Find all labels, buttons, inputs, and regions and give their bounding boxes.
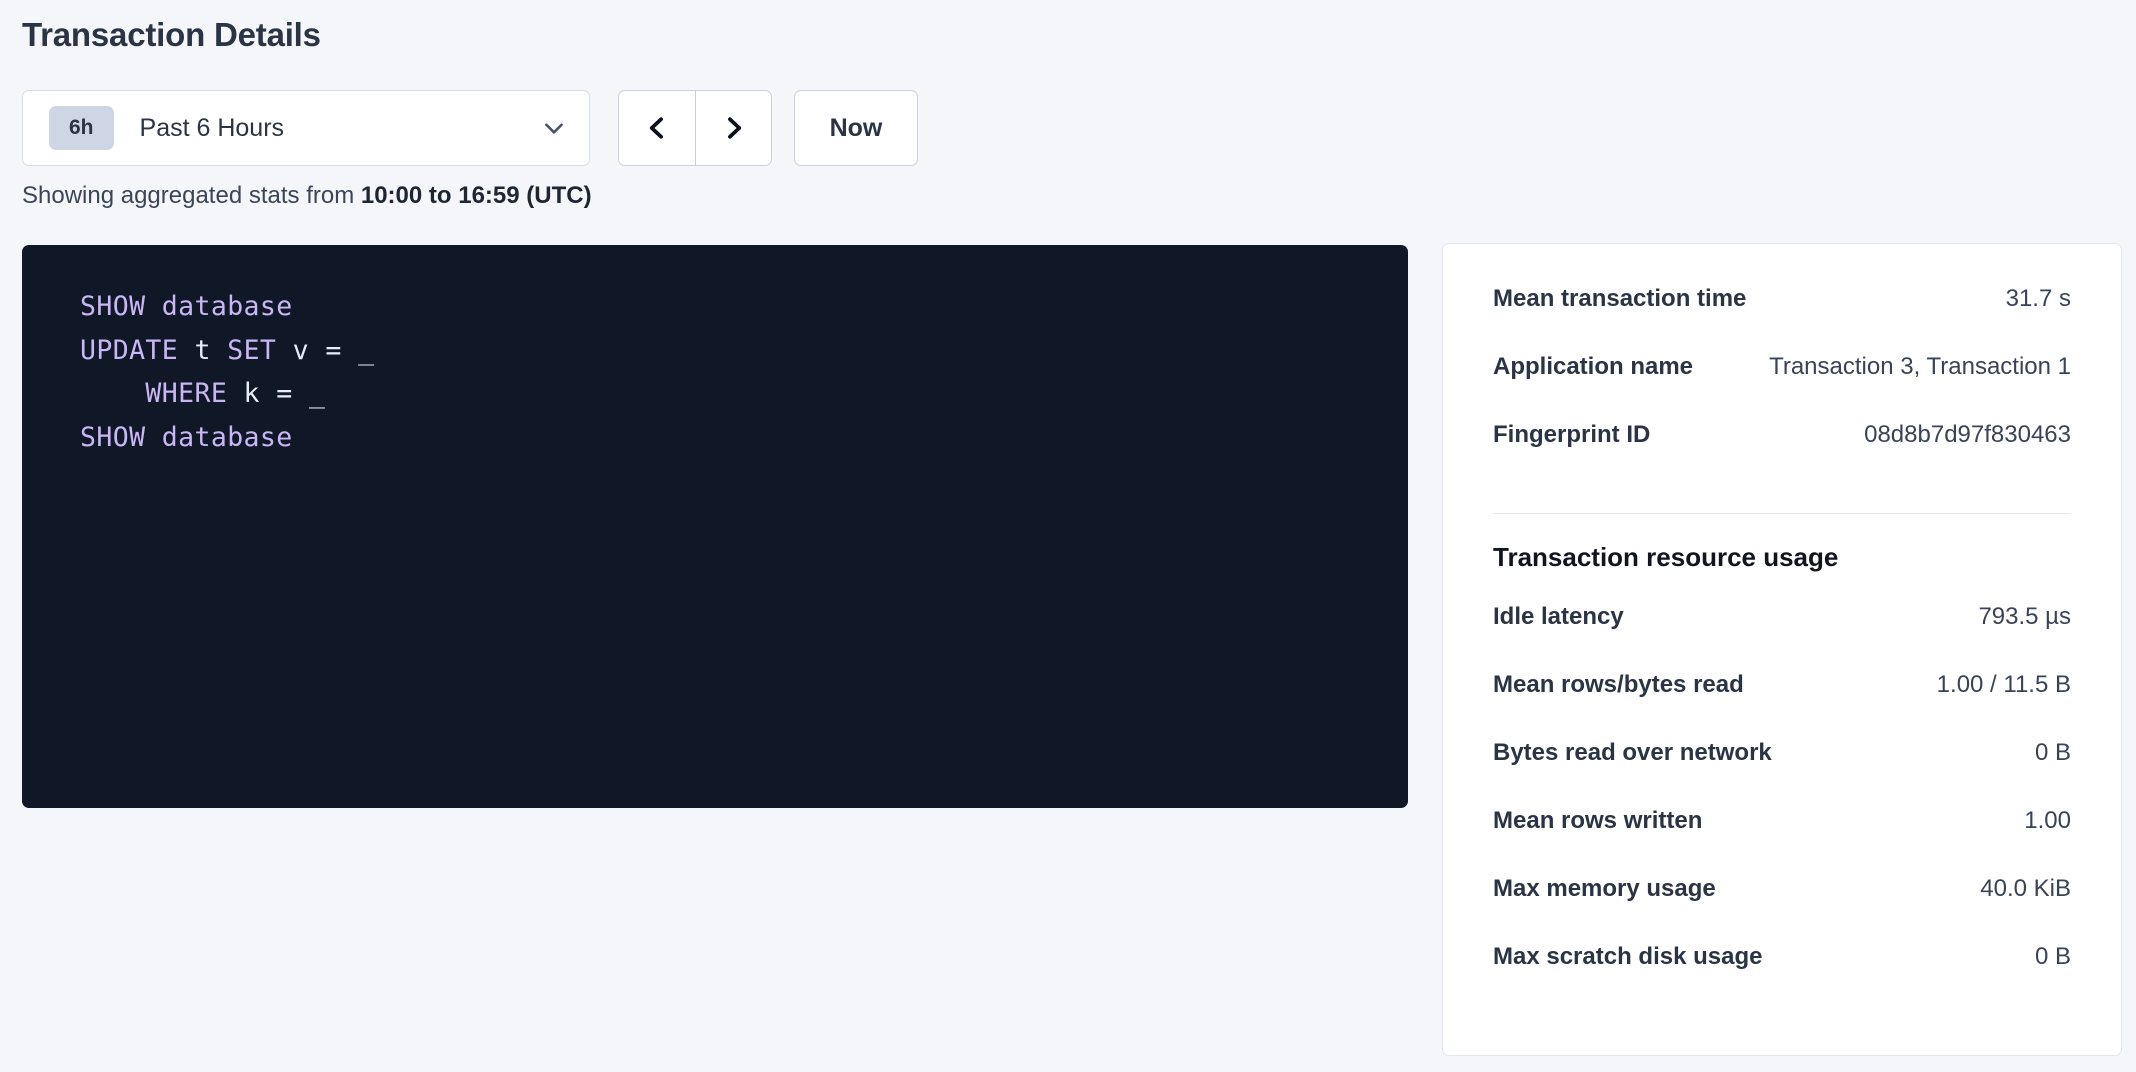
caption-range: 10:00 to 16:59 (UTC) — [361, 182, 592, 209]
previous-period-button[interactable] — [619, 91, 695, 165]
chevron-down-icon — [541, 115, 567, 141]
transaction-stats-card: Mean transaction time31.7 sApplication n… — [1442, 243, 2122, 1056]
stat-label: Application name — [1493, 352, 1693, 382]
sql-token: t — [178, 335, 227, 366]
stat-value: 0 B — [2035, 942, 2071, 972]
stat-value: Transaction 3, Transaction 1 — [1769, 352, 2071, 382]
transaction-details-page: Transaction Details 6h Past 6 Hours Now — [0, 0, 2136, 1072]
stat-value: 1.00 / 11.5 B — [1937, 670, 2071, 700]
stat-row: Fingerprint ID08d8b7d97f830463 — [1493, 420, 2071, 488]
sql-token: database — [162, 422, 293, 453]
time-nav-group — [618, 90, 772, 166]
sql-code-text: SHOW database UPDATE t SET v = _ WHERE k… — [80, 285, 1408, 459]
stat-row: Max scratch disk usage0 B — [1493, 942, 2071, 1010]
sql-token — [145, 291, 161, 322]
stat-value: 08d8b7d97f830463 — [1864, 420, 2071, 450]
stat-row: Application nameTransaction 3, Transacti… — [1493, 352, 2071, 420]
sql-token: k = _ — [227, 378, 325, 409]
chevron-left-icon — [643, 114, 671, 142]
now-button[interactable]: Now — [794, 90, 918, 166]
stat-row: Mean rows written1.00 — [1493, 806, 2071, 874]
stat-row: Idle latency793.5 µs — [1493, 602, 2071, 670]
stat-label: Mean rows written — [1493, 806, 1702, 836]
summary-stat-list: Mean transaction time31.7 sApplication n… — [1493, 284, 2071, 488]
stat-label: Mean transaction time — [1493, 284, 1746, 314]
time-range-badge: 6h — [49, 106, 114, 150]
stat-row: Mean rows/bytes read1.00 / 11.5 B — [1493, 670, 2071, 738]
stat-row: Bytes read over network0 B — [1493, 738, 2071, 806]
time-range-select[interactable]: 6h Past 6 Hours — [22, 90, 590, 166]
stat-value: 31.7 s — [2006, 284, 2071, 314]
resource-stat-list: Idle latency793.5 µsMean rows/bytes read… — [1493, 602, 2071, 1010]
sql-token: database — [162, 291, 293, 322]
stat-label: Idle latency — [1493, 602, 1624, 632]
stats-divider — [1493, 513, 2071, 514]
sql-code-panel[interactable]: SHOW database UPDATE t SET v = _ WHERE k… — [22, 245, 1408, 808]
sql-token: UPDATE — [80, 335, 178, 366]
stat-label: Mean rows/bytes read — [1493, 670, 1744, 700]
sql-token: WHERE — [145, 378, 227, 409]
sql-token: SHOW — [80, 291, 145, 322]
sql-token: v = _ — [276, 335, 374, 366]
stat-label: Fingerprint ID — [1493, 420, 1650, 450]
time-range-label: Past 6 Hours — [140, 113, 541, 143]
stat-value: 1.00 — [2024, 806, 2071, 836]
stat-value: 40.0 KiB — [1980, 874, 2071, 904]
time-range-toolbar: 6h Past 6 Hours Now — [22, 90, 918, 166]
sql-token — [80, 378, 145, 409]
resource-usage-heading: Transaction resource usage — [1493, 540, 2071, 574]
caption-prefix: Showing aggregated stats from — [22, 182, 361, 209]
stat-value: 0 B — [2035, 738, 2071, 768]
sql-token — [145, 422, 161, 453]
stat-label: Max memory usage — [1493, 874, 1716, 904]
stat-label: Max scratch disk usage — [1493, 942, 1762, 972]
stat-row: Mean transaction time31.7 s — [1493, 284, 2071, 352]
sql-token: SHOW — [80, 422, 145, 453]
stat-label: Bytes read over network — [1493, 738, 1772, 768]
aggregation-caption: Showing aggregated stats from 10:00 to 1… — [22, 180, 592, 212]
next-period-button[interactable] — [695, 91, 771, 165]
stat-value: 793.5 µs — [1978, 602, 2071, 632]
chevron-right-icon — [720, 114, 748, 142]
page-title: Transaction Details — [22, 14, 321, 56]
sql-token: SET — [227, 335, 276, 366]
stat-row: Max memory usage40.0 KiB — [1493, 874, 2071, 942]
